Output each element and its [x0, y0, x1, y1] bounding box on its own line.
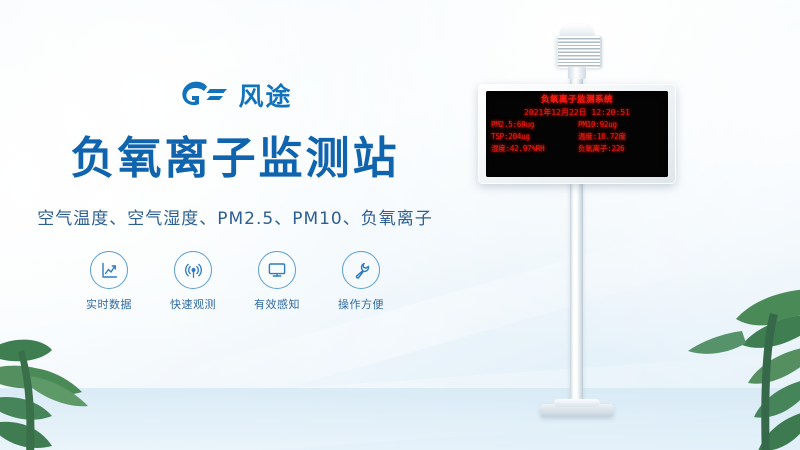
green-leaf-plant-left: [0, 306, 144, 450]
display-reading-row: TSP:204ug 温度:10.72度: [491, 132, 663, 142]
reading-pm25: PM2.5:69ug: [491, 120, 576, 130]
fengtu-wind-logo-icon: [177, 80, 231, 110]
feature-item-fast-observation[interactable]: 快速观测: [162, 251, 224, 312]
sensor-louvers: [556, 36, 602, 68]
reading-pm10: PM10:92ug: [576, 120, 663, 130]
display-reading-row: 湿度:42.97%RH 负氧离子:226: [491, 144, 663, 154]
display-title: 负氧离子监测系统: [491, 95, 663, 106]
feature-icon-circle: [174, 251, 212, 289]
hero-text-block: 风途 负氧离子监测站 空气温度、空气湿度、PM2.5、PM10、负氧离子 实时数…: [0, 78, 470, 312]
feature-label: 有效感知: [246, 296, 308, 312]
led-display-screen: 负氧离子监测系统 2021年12月22日 12:20:51 PM2.5:69ug…: [486, 91, 668, 177]
feature-list: 实时数据 快速观测: [0, 251, 470, 312]
feature-item-easy-operation[interactable]: 操作方便: [330, 251, 392, 312]
brand-logo: 风途: [0, 78, 470, 112]
poster-canvas: 风途 负氧离子监测站 空气温度、空气湿度、PM2.5、PM10、负氧离子 实时数…: [0, 0, 800, 450]
radar-signal-icon: [184, 261, 203, 280]
reading-tsp: TSP:204ug: [491, 132, 576, 142]
reading-negative-ion: 负氧离子:226: [576, 144, 663, 154]
feature-icon-circle: [342, 251, 380, 289]
feature-item-effective-sensing[interactable]: 有效感知: [246, 251, 308, 312]
hero-subtitle: 空气温度、空气湿度、PM2.5、PM10、负氧离子: [0, 204, 470, 229]
led-display-bezel: 负氧离子监测系统 2021年12月22日 12:20:51 PM2.5:69ug…: [478, 84, 676, 184]
radiation-shield-sensor: [553, 24, 601, 78]
feature-icon-circle: [90, 251, 128, 289]
sensor-mount: [568, 67, 586, 79]
page-title: 负氧离子监测站: [0, 122, 470, 186]
feature-label: 操作方便: [330, 296, 392, 312]
wrench-icon: [352, 261, 371, 280]
monitor-screen-icon: [267, 261, 287, 279]
feature-label: 快速观测: [162, 296, 224, 312]
pole-base-flange: [540, 404, 614, 417]
display-reading-row: PM2.5:69ug PM10:92ug: [491, 120, 663, 130]
line-chart-icon: [100, 261, 119, 280]
feature-icon-circle: [258, 251, 296, 289]
feature-item-realtime-data[interactable]: 实时数据: [78, 251, 140, 312]
reading-humidity: 湿度:42.97%RH: [491, 144, 576, 154]
reading-temperature: 温度:10.72度: [576, 132, 663, 142]
green-leaf-plant-right: [658, 275, 800, 450]
display-datetime: 2021年12月22日 12:20:51: [491, 107, 663, 118]
brand-name: 风途: [238, 77, 292, 113]
